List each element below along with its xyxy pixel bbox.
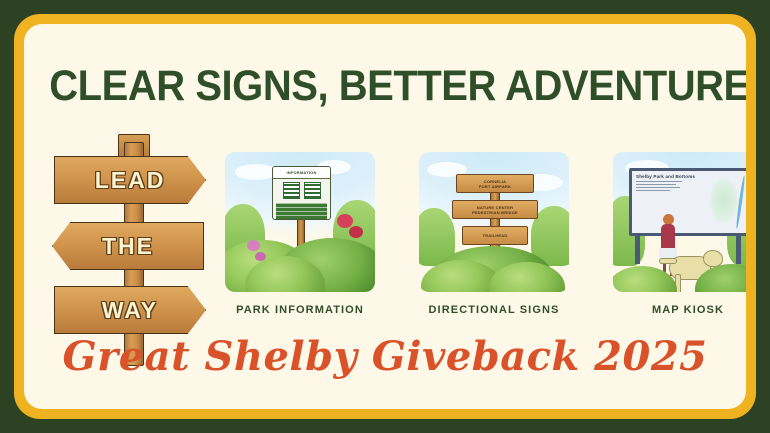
- thumbnail-park-information: INFORMATION: [220, 152, 380, 332]
- qr-code-row: [273, 179, 330, 201]
- map-text-line: [636, 187, 680, 188]
- flower-shape: [337, 214, 353, 228]
- page-title: CLEAR SIGNS, BETTER ADVENTURES: [49, 62, 720, 111]
- kiosk-map-board: Shelby Park and Bottoms: [629, 168, 746, 236]
- thumbnail-caption: PARK INFORMATION: [220, 304, 380, 316]
- park-information-illustration: INFORMATION: [225, 152, 375, 292]
- map-text-line: [636, 190, 670, 191]
- lead-the-way-signpost: LEAD THE WAY: [46, 134, 216, 364]
- signpost-arm-lead: LEAD: [54, 156, 206, 204]
- directional-sign-3: TRAILHEAD: [462, 226, 528, 245]
- poster-canvas: CLEAR SIGNS, BETTER ADVENTURES LEAD THE …: [0, 0, 770, 433]
- gold-frame: CLEAR SIGNS, BETTER ADVENTURES LEAD THE …: [14, 14, 756, 419]
- flower-shape: [255, 252, 266, 261]
- map-kiosk-illustration: Shelby Park and Bottoms: [613, 152, 746, 292]
- signpost-arm-the: THE: [52, 222, 204, 270]
- flower-shape: [247, 240, 260, 251]
- thumbnail-map-kiosk: Shelby Park and Bottoms: [608, 152, 746, 332]
- board-text-block: [276, 203, 327, 220]
- flower-shape: [349, 226, 363, 238]
- thumbnail-directional-signs: CORNELIA FORT AIRPARK NATURE CENTER PEDE…: [414, 152, 574, 332]
- sign-line-2: PEDESTRIAN BRIDGE: [472, 210, 518, 215]
- directional-sign-2: NATURE CENTER PEDESTRIAN BRIDGE: [452, 200, 538, 219]
- directional-signs-illustration: CORNELIA FORT AIRPARK NATURE CENTER PEDE…: [419, 152, 569, 292]
- directional-sign-1: CORNELIA FORT AIRPARK: [456, 174, 534, 193]
- sign-line-1: TRAILHEAD: [483, 233, 508, 238]
- thumbnail-caption: MAP KIOSK: [608, 304, 746, 316]
- poster-card: CLEAR SIGNS, BETTER ADVENTURES LEAD THE …: [24, 24, 746, 409]
- map-park-area: [700, 177, 740, 229]
- dog-tail: [659, 258, 677, 264]
- map-text-line: [636, 184, 676, 185]
- map-text-line: [636, 181, 682, 182]
- board-heading: INFORMATION: [273, 167, 330, 179]
- qr-code-icon: [283, 182, 300, 199]
- cloud-icon: [235, 164, 277, 180]
- park-information-board: INFORMATION: [272, 166, 331, 220]
- bush-shape: [613, 266, 677, 292]
- thumbnail-row: INFORMATION: [220, 152, 746, 332]
- thumbnail-caption: DIRECTIONAL SIGNS: [414, 304, 574, 316]
- campaign-title: Great Shelby Giveback 2025: [24, 333, 746, 380]
- qr-code-icon: [304, 182, 321, 199]
- signpost-arm-way: WAY: [54, 286, 206, 334]
- visitor-body: [661, 224, 675, 250]
- sign-line-2: FORT AIRPARK: [479, 184, 511, 189]
